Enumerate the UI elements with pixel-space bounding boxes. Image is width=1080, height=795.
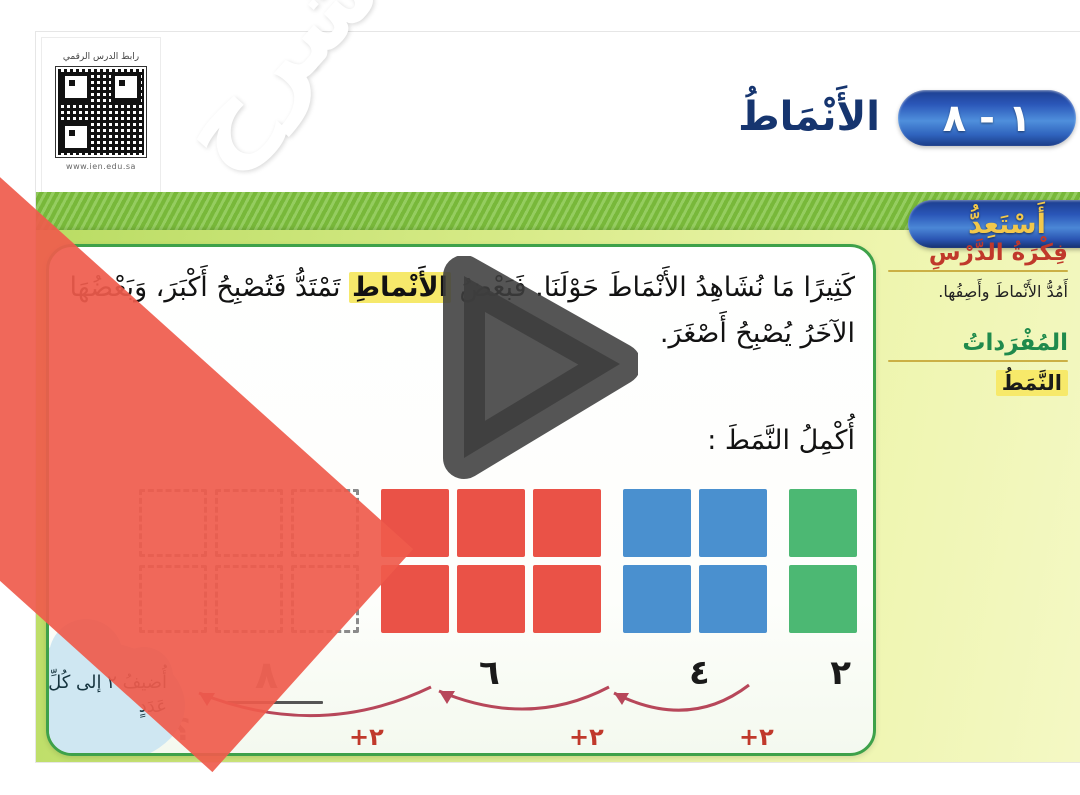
- pattern-square-red: [381, 565, 449, 633]
- pattern-square-red: [457, 489, 525, 557]
- pattern-square-red: [533, 489, 601, 557]
- video-player-stage[interactable]: رابط الدرس الرقمي www.ien.edu.sa الأَنْم…: [0, 0, 1080, 795]
- pattern-group-green: [789, 489, 857, 633]
- sidebar: فِكْرَةُ الدَّرْسِ أَمُدُّ الأَنْماطَ وأ…: [872, 240, 1074, 396]
- pattern-square-blue: [699, 489, 767, 557]
- qr-caption: رابط الدرس الرقمي: [42, 52, 160, 62]
- sidebar-vocabulary-list: النَّمَطُ: [872, 370, 1068, 396]
- pattern-group-empty[interactable]: [139, 489, 359, 633]
- pattern-group-red: [381, 489, 601, 633]
- pattern-square-red: [533, 565, 601, 633]
- pattern-square-green: [789, 489, 857, 557]
- play-button[interactable]: [438, 256, 638, 486]
- pattern-square-blue: [699, 565, 767, 633]
- thought-cloud: أُضيفُ ٢ إلى كُلِّ عَدَدٍ: [46, 641, 185, 756]
- pattern-square-red: [457, 565, 525, 633]
- sidebar-divider-2: [888, 360, 1068, 362]
- pattern-square-blue: [623, 565, 691, 633]
- pattern-group-blue: [623, 489, 767, 633]
- paragraph-highlight: الأَنْماطِ: [349, 272, 451, 303]
- play-triangle-icon[interactable]: [438, 256, 638, 486]
- qr-code-icon[interactable]: [56, 67, 146, 157]
- sidebar-divider-1: [888, 270, 1068, 272]
- cloud-text: أُضيفُ ٢ إلى كُلِّ عَدَدٍ: [46, 671, 167, 720]
- qr-finder-top-left: [61, 72, 91, 102]
- pattern-square-empty[interactable]: [291, 565, 359, 633]
- pattern-row: [49, 489, 873, 639]
- sidebar-spacer: [872, 304, 1068, 330]
- pattern-square-empty[interactable]: [139, 565, 207, 633]
- pattern-square-empty[interactable]: [215, 489, 283, 557]
- qr-finder-top-right: [111, 72, 141, 102]
- qr-block[interactable]: رابط الدرس الرقمي www.ien.edu.sa: [42, 38, 160, 198]
- lesson-prompt: أُكْمِلُ النَّمَطَ :: [707, 425, 855, 456]
- qr-finder-bottom-left: [61, 122, 91, 152]
- page-title: الأَنْمَاطُ: [738, 94, 880, 140]
- pattern-square-empty[interactable]: [139, 489, 207, 557]
- qr-url: www.ien.edu.sa: [42, 162, 160, 171]
- pattern-square-empty[interactable]: [291, 489, 359, 557]
- sidebar-lesson-idea-body: أَمُدُّ الأَنْماطَ وأَصِفُها.: [872, 280, 1068, 304]
- pattern-square-red: [381, 489, 449, 557]
- pattern-square-blue: [623, 489, 691, 557]
- pattern-square-green: [789, 565, 857, 633]
- page-header: رابط الدرس الرقمي www.ien.edu.sa الأَنْم…: [36, 32, 1080, 192]
- pattern-square-empty[interactable]: [215, 565, 283, 633]
- lesson-number-badge: ١ - ٨: [898, 90, 1076, 146]
- vocabulary-term: النَّمَطُ: [996, 370, 1068, 396]
- sidebar-heading-vocabulary: المُفْرَداتُ: [872, 330, 1068, 356]
- sidebar-heading-lesson-idea: فِكْرَةُ الدَّرْسِ: [872, 240, 1068, 266]
